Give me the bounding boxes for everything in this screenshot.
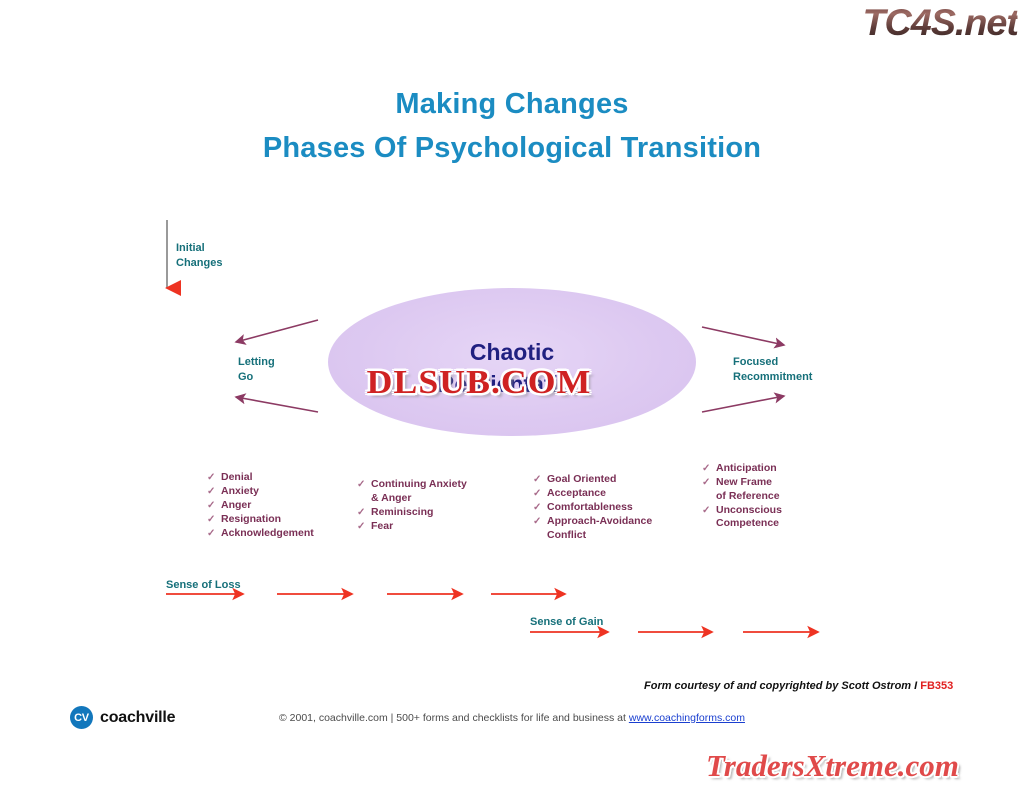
- form-credit: Form courtesy of and copyrighted by Scot…: [644, 680, 953, 692]
- trait-label: Reminiscing: [371, 506, 433, 520]
- check-icon: ✓: [533, 473, 547, 487]
- trait-label: Resignation: [221, 513, 281, 527]
- letting-go-arrow-lower: [236, 397, 318, 412]
- poster-canvas: TC4S.net Making Changes Phases Of Psycho…: [0, 0, 1024, 791]
- diagram-arrows: [0, 0, 1024, 791]
- traits-column-recommitment: ✓Anticipation✓New Frame of Reference✓Unc…: [702, 462, 782, 531]
- trait-label: New Frame of Reference: [716, 476, 780, 503]
- form-credit-text: Form courtesy of and copyrighted by Scot…: [644, 680, 920, 692]
- label-letting-go: Letting Go: [238, 355, 275, 384]
- trait-item: ✓Comfortableness: [533, 501, 652, 515]
- form-code: FB353: [920, 680, 953, 692]
- coachville-badge-icon: CV: [70, 706, 93, 729]
- trait-label: Anxiety: [221, 485, 259, 499]
- check-icon: ✓: [357, 520, 371, 534]
- trait-label: Denial: [221, 471, 253, 485]
- check-icon: ✓: [357, 506, 371, 520]
- coachingforms-link[interactable]: www.coachingforms.com: [629, 712, 745, 724]
- coachville-wordmark: coachville: [100, 709, 175, 727]
- check-icon: ✓: [702, 476, 716, 490]
- trait-label: Continuing Anxiety & Anger: [371, 478, 467, 505]
- trait-item: ✓Approach-Avoidance Conflict: [533, 515, 652, 542]
- trait-label: Anticipation: [716, 462, 777, 476]
- check-icon: ✓: [357, 478, 371, 492]
- trait-item: ✓Acknowledgement: [207, 527, 314, 541]
- coachville-logo: CV coachville: [70, 706, 175, 729]
- trait-label: Fear: [371, 520, 393, 534]
- trait-label: Goal Oriented: [547, 473, 616, 487]
- trait-label: Acceptance: [547, 487, 606, 501]
- trait-label: Approach-Avoidance Conflict: [547, 515, 652, 542]
- trait-item: ✓Unconscious Competence: [702, 504, 782, 531]
- recommitment-arrow-lower: [702, 396, 784, 412]
- check-icon: ✓: [702, 504, 716, 518]
- check-icon: ✓: [702, 462, 716, 476]
- trait-item: ✓Reminiscing: [357, 506, 467, 520]
- check-icon: ✓: [207, 485, 221, 499]
- label-focused-recommitment: Focused Recommitment: [733, 355, 812, 384]
- trait-item: ✓Anxiety: [207, 485, 314, 499]
- trait-item: ✓Resignation: [207, 513, 314, 527]
- letting-go-arrow-upper: [236, 320, 318, 342]
- recommitment-arrow-upper: [702, 327, 784, 345]
- trait-item: ✓Anger: [207, 499, 314, 513]
- trait-label: Anger: [221, 499, 251, 513]
- trait-item: ✓Denial: [207, 471, 314, 485]
- trait-label: Comfortableness: [547, 501, 633, 515]
- trait-item: ✓Continuing Anxiety & Anger: [357, 478, 467, 505]
- trait-item: ✓Acceptance: [533, 487, 652, 501]
- label-sense-of-gain: Sense of Gain: [530, 615, 603, 630]
- trait-item: ✓New Frame of Reference: [702, 476, 782, 503]
- traits-column-reorientation: ✓Goal Oriented✓Acceptance✓Comfortablenes…: [533, 473, 652, 543]
- check-icon: ✓: [207, 471, 221, 485]
- traits-column-letting-go: ✓Denial✓Anxiety✓Anger✓Resignation✓Acknow…: [207, 471, 314, 541]
- check-icon: ✓: [207, 499, 221, 513]
- check-icon: ✓: [207, 527, 221, 541]
- trait-item: ✓Goal Oriented: [533, 473, 652, 487]
- trait-label: Acknowledgement: [221, 527, 314, 541]
- tradersxtreme-watermark: TradersXtreme.com: [706, 748, 959, 784]
- trait-label: Unconscious Competence: [716, 504, 782, 531]
- label-initial-changes: Initial Changes: [176, 241, 222, 270]
- traits-column-chaotic: ✓Continuing Anxiety & Anger✓Reminiscing✓…: [357, 478, 467, 534]
- trait-item: ✓Fear: [357, 520, 467, 534]
- check-icon: ✓: [533, 515, 547, 529]
- check-icon: ✓: [207, 513, 221, 527]
- trait-item: ✓Anticipation: [702, 462, 782, 476]
- copyright-text: © 2001, coachville.com | 500+ forms and …: [279, 712, 629, 724]
- label-sense-of-loss: Sense of Loss: [166, 578, 241, 593]
- check-icon: ✓: [533, 501, 547, 515]
- check-icon: ✓: [533, 487, 547, 501]
